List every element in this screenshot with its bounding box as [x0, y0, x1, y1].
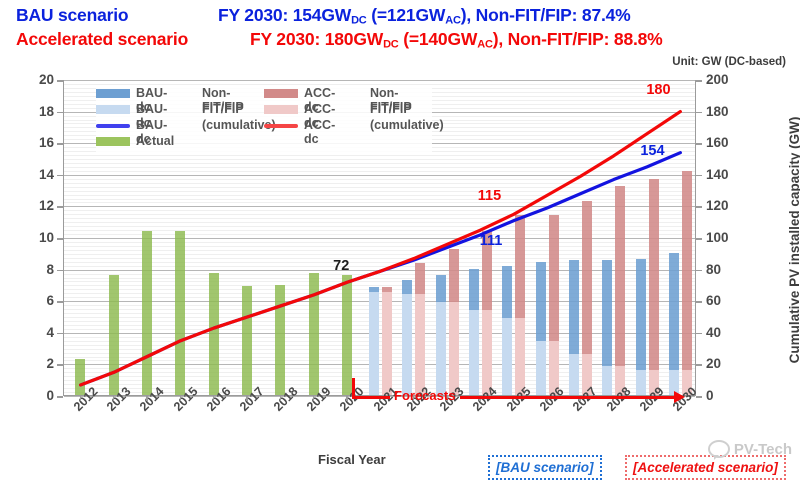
y-tick-right-40: 40	[706, 325, 746, 340]
y-tickmark-right	[696, 333, 702, 335]
y-tickmark-left	[57, 333, 63, 335]
accelerated-scenario-box: [Accelerated scenario]	[625, 455, 786, 480]
legend-line-swatch	[264, 124, 298, 128]
y-tick-left-12: 12	[20, 198, 54, 213]
legend-line-swatch	[96, 124, 130, 128]
y-tickmark-left	[57, 175, 63, 177]
y-tickmark-left	[57, 238, 63, 240]
y-tick-right-20: 20	[706, 356, 746, 371]
y-tickmark-left	[57, 206, 63, 208]
y-tickmark-right	[696, 270, 702, 272]
chart-root: BAU scenario FY 2030: 154GWDC (=121GWAC)…	[0, 0, 800, 481]
annotation-cumulative-2020: 72	[333, 258, 349, 274]
header-acc-detail-pre: FY 2030: 180GW	[250, 29, 383, 49]
x-tickmark	[80, 396, 82, 401]
y-tick-left-20: 20	[20, 72, 54, 87]
legend-series-type: FIT/FIP	[370, 102, 412, 116]
y-tick-left-4: 4	[20, 325, 54, 340]
header-acc-post: ), Non-FIT/FIP: 88.8%	[493, 29, 663, 49]
y-tick-left-2: 2	[20, 356, 54, 371]
x-tickmark	[113, 396, 115, 401]
header-bau-post: ), Non-FIT/FIP: 87.4%	[461, 5, 631, 25]
y-tick-left-0: 0	[20, 388, 54, 403]
legend-color-swatch	[96, 89, 130, 98]
forecast-arrow-icon	[674, 391, 685, 403]
x-axis-label: Fiscal Year	[318, 452, 386, 467]
chart-legend: BAU-dcNon-FIT/FIPBAU-dcFIT/FIPBAU-dc(cum…	[96, 86, 432, 152]
y-tickmark-right	[696, 112, 702, 114]
header-acc-mid: (=140GW	[399, 29, 478, 49]
y-tick-right-200: 200	[706, 72, 746, 87]
y-tick-right-0: 0	[706, 388, 746, 403]
y-tickmark-left	[57, 143, 63, 145]
y-axis-label-right: Cumulative PV installed capacity (GW)	[787, 90, 800, 390]
header-acc-sub-dc: DC	[383, 38, 399, 50]
cumulative-line-acc	[81, 112, 681, 385]
y-tickmark-right	[696, 80, 702, 82]
x-tickmark	[213, 396, 215, 401]
y-tick-right-140: 140	[706, 167, 746, 182]
y-tick-right-120: 120	[706, 198, 746, 213]
forecast-label: Forecasts	[394, 388, 455, 403]
chart-header: BAU scenario FY 2030: 154GWDC (=121GWAC)…	[0, 0, 800, 56]
header-acc-label: Accelerated scenario	[16, 29, 188, 50]
legend-series-type: (cumulative)	[370, 118, 444, 132]
y-tickmark-left	[57, 364, 63, 366]
legend-color-swatch	[96, 105, 130, 114]
y-tick-left-16: 16	[20, 135, 54, 150]
annotation-acc-2030: 180	[646, 82, 670, 98]
y-tickmark-right	[696, 364, 702, 366]
unit-note: Unit: GW (DC-based)	[672, 56, 786, 68]
forecast-bracket-left-line	[352, 396, 390, 399]
legend-color-swatch	[96, 137, 130, 146]
header-acc-detail: FY 2030: 180GWDC (=140GWAC), Non-FIT/FIP…	[250, 29, 663, 50]
y-tickmark-right	[696, 175, 702, 177]
legend-color-swatch	[264, 105, 298, 114]
legend-series-name: ACC-dc	[304, 118, 335, 146]
x-tickmark	[280, 396, 282, 401]
header-bau-sub-ac: AC	[445, 14, 461, 26]
y-tickmark-right	[696, 143, 702, 145]
y-tickmark-left	[57, 112, 63, 114]
x-tickmark	[313, 396, 315, 401]
y-tick-right-100: 100	[706, 230, 746, 245]
annotation-bau-2030: 154	[640, 143, 664, 159]
header-bau-detail-pre: FY 2030: 154GW	[218, 5, 351, 25]
y-tickmark-left	[57, 270, 63, 272]
x-tickmark	[180, 396, 182, 401]
y-tickmark-right	[696, 206, 702, 208]
y-tickmark-left	[57, 396, 63, 398]
annotation-acc-2025: 115	[478, 188, 501, 204]
y-tick-left-14: 14	[20, 167, 54, 182]
y-tick-right-160: 160	[706, 135, 746, 150]
header-bau-detail: FY 2030: 154GWDC (=121GWAC), Non-FIT/FIP…	[218, 5, 631, 26]
x-tickmark	[346, 396, 348, 401]
y-tick-left-18: 18	[20, 104, 54, 119]
header-bau-sub-dc: DC	[351, 14, 367, 26]
legend-series-type: FIT/FIP	[202, 102, 244, 116]
y-tickmark-left	[57, 80, 63, 82]
bau-scenario-box: [BAU scenario]	[488, 455, 602, 480]
y-tickmark-left	[57, 301, 63, 303]
y-tick-left-10: 10	[20, 230, 54, 245]
forecast-bracket: Forecasts	[352, 378, 688, 408]
header-acc-sub-ac: AC	[477, 38, 493, 50]
y-tickmark-right	[696, 238, 702, 240]
header-bau-mid: (=121GW	[367, 5, 446, 25]
legend-series-name: Actual	[136, 134, 174, 148]
header-bau-label: BAU scenario	[16, 5, 128, 26]
x-tickmark	[146, 396, 148, 401]
y-tick-right-180: 180	[706, 104, 746, 119]
cumulative-line-bau	[81, 153, 681, 385]
watermark: PV-Tech	[708, 440, 792, 458]
legend-color-swatch	[264, 89, 298, 98]
y-tick-right-60: 60	[706, 293, 746, 308]
annotation-bau-2025: 111	[480, 233, 503, 249]
y-tick-left-6: 6	[20, 293, 54, 308]
watermark-text: PV-Tech	[734, 441, 792, 458]
x-tickmark	[246, 396, 248, 401]
forecast-bracket-right-line	[460, 396, 676, 399]
y-tickmark-right	[696, 301, 702, 303]
forecast-bracket-vertical	[352, 378, 355, 398]
y-tick-right-80: 80	[706, 262, 746, 277]
y-tick-left-8: 8	[20, 262, 54, 277]
wechat-icon	[708, 440, 730, 458]
